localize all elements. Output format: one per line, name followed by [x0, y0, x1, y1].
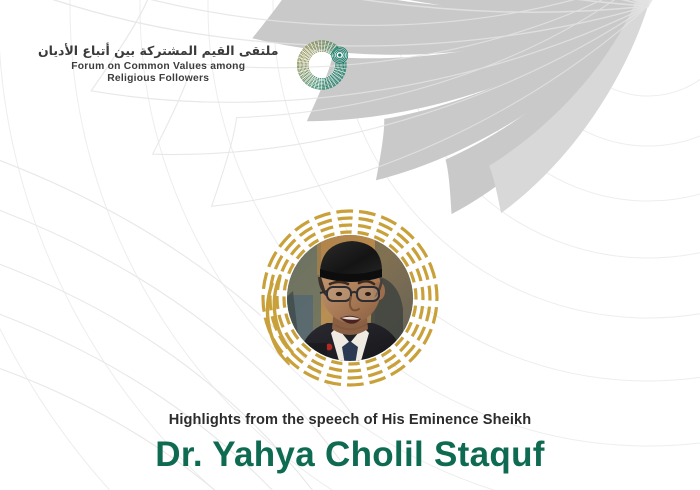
speaker-portrait: [258, 206, 442, 390]
brand-name-english-line1: Forum on Common Values among: [38, 61, 278, 73]
poster-canvas: ملتقى القيم المشتركة بين أتباع الأديان F…: [0, 0, 700, 490]
brand-logo-lockup: ملتقى القيم المشتركة بين أتباع الأديان F…: [38, 34, 354, 96]
concentric-rings-logo-icon: [292, 34, 354, 96]
brand-name-arabic: ملتقى القيم المشتركة بين أتباع الأديان: [38, 44, 278, 59]
brand-name-english-line2: Religious Followers: [38, 73, 278, 85]
speech-subtitle: Highlights from the speech of His Eminen…: [0, 412, 700, 428]
caption-block: Highlights from the speech of His Eminen…: [0, 412, 700, 475]
brand-name-block: ملتقى القيم المشتركة بين أتباع الأديان F…: [38, 44, 278, 85]
speaker-photo-illustration: [287, 235, 413, 361]
speaker-photo: [287, 235, 413, 361]
speaker-name: Dr. Yahya Cholil Staquf: [0, 436, 700, 475]
